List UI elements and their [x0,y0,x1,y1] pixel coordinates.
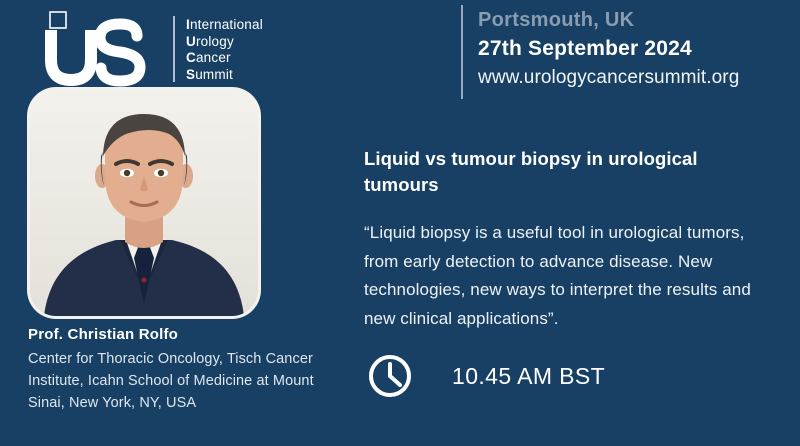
speaker-name: Prof. Christian Rolfo [28,326,178,343]
card-header: International Urology Cancer Summit Port… [0,0,800,104]
event-date: 27th September 2024 [478,35,788,63]
ucs-logo: International Urology Cancer Summit [34,6,294,94]
header-vertical-divider [461,5,463,99]
event-website[interactable]: www.urologycancersummit.org [478,65,788,91]
session-announcement-card: International Urology Cancer Summit Port… [0,0,800,446]
logo-wordmark: International Urology Cancer Summit [186,17,263,83]
event-details: Portsmouth, UK 27th September 2024 www.u… [478,7,788,91]
talk-quote: “Liquid biopsy is a useful tool in urolo… [364,219,782,333]
logo-word-summit: Summit [186,67,263,84]
logo-word-urology: Urology [186,34,263,51]
logo-spinnaker-divider-icon [173,16,175,82]
logo-word-international: International [186,17,263,34]
logo-word-cancer: Cancer [186,50,263,67]
clock-icon [366,352,414,400]
talk-time-row: 10.45 AM BST [366,350,605,402]
speaker-photo [30,90,258,316]
event-location: Portsmouth, UK [478,7,788,33]
talk-title: Liquid vs tumour biopsy in urological tu… [364,146,776,198]
talk-time: 10.45 AM BST [452,363,605,390]
speaker-affiliation: Center for Thoracic Oncology, Tisch Canc… [28,348,328,414]
ucs-logo-mark-icon [34,10,160,88]
